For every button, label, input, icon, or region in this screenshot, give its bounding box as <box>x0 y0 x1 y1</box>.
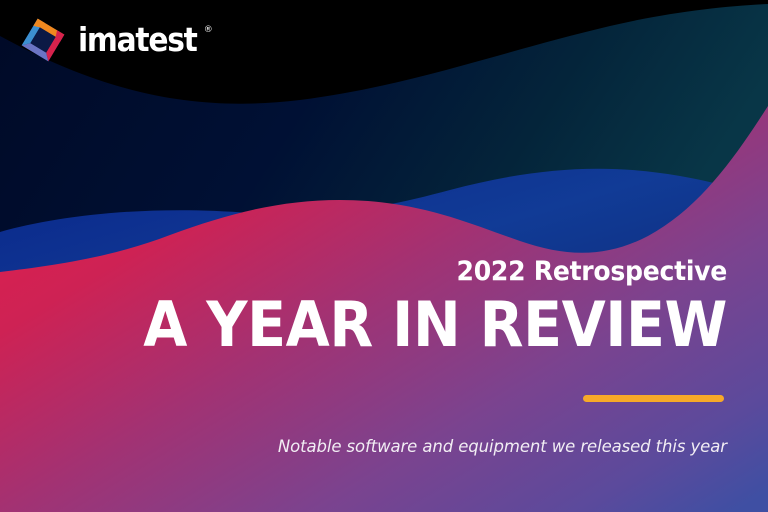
registered-trademark-icon: ® <box>204 26 213 35</box>
slide-canvas: imatest ® 2022 Retrospective A YEAR IN R… <box>0 0 768 512</box>
hero-eyebrow: 2022 Retrospective <box>85 256 727 288</box>
wordmark-text: imatest <box>78 23 197 57</box>
imatest-diamond-logo-icon <box>18 15 68 65</box>
imatest-wordmark: imatest ® <box>78 23 213 57</box>
hero-subtitle: Notable software and equipment we releas… <box>278 435 727 459</box>
accent-rule-divider <box>583 395 724 402</box>
page-title: A YEAR IN REVIEW <box>92 292 727 358</box>
imatest-logo[interactable]: imatest ® <box>18 14 213 66</box>
hero-text-block: 2022 Retrospective A YEAR IN REVIEW <box>37 256 727 358</box>
